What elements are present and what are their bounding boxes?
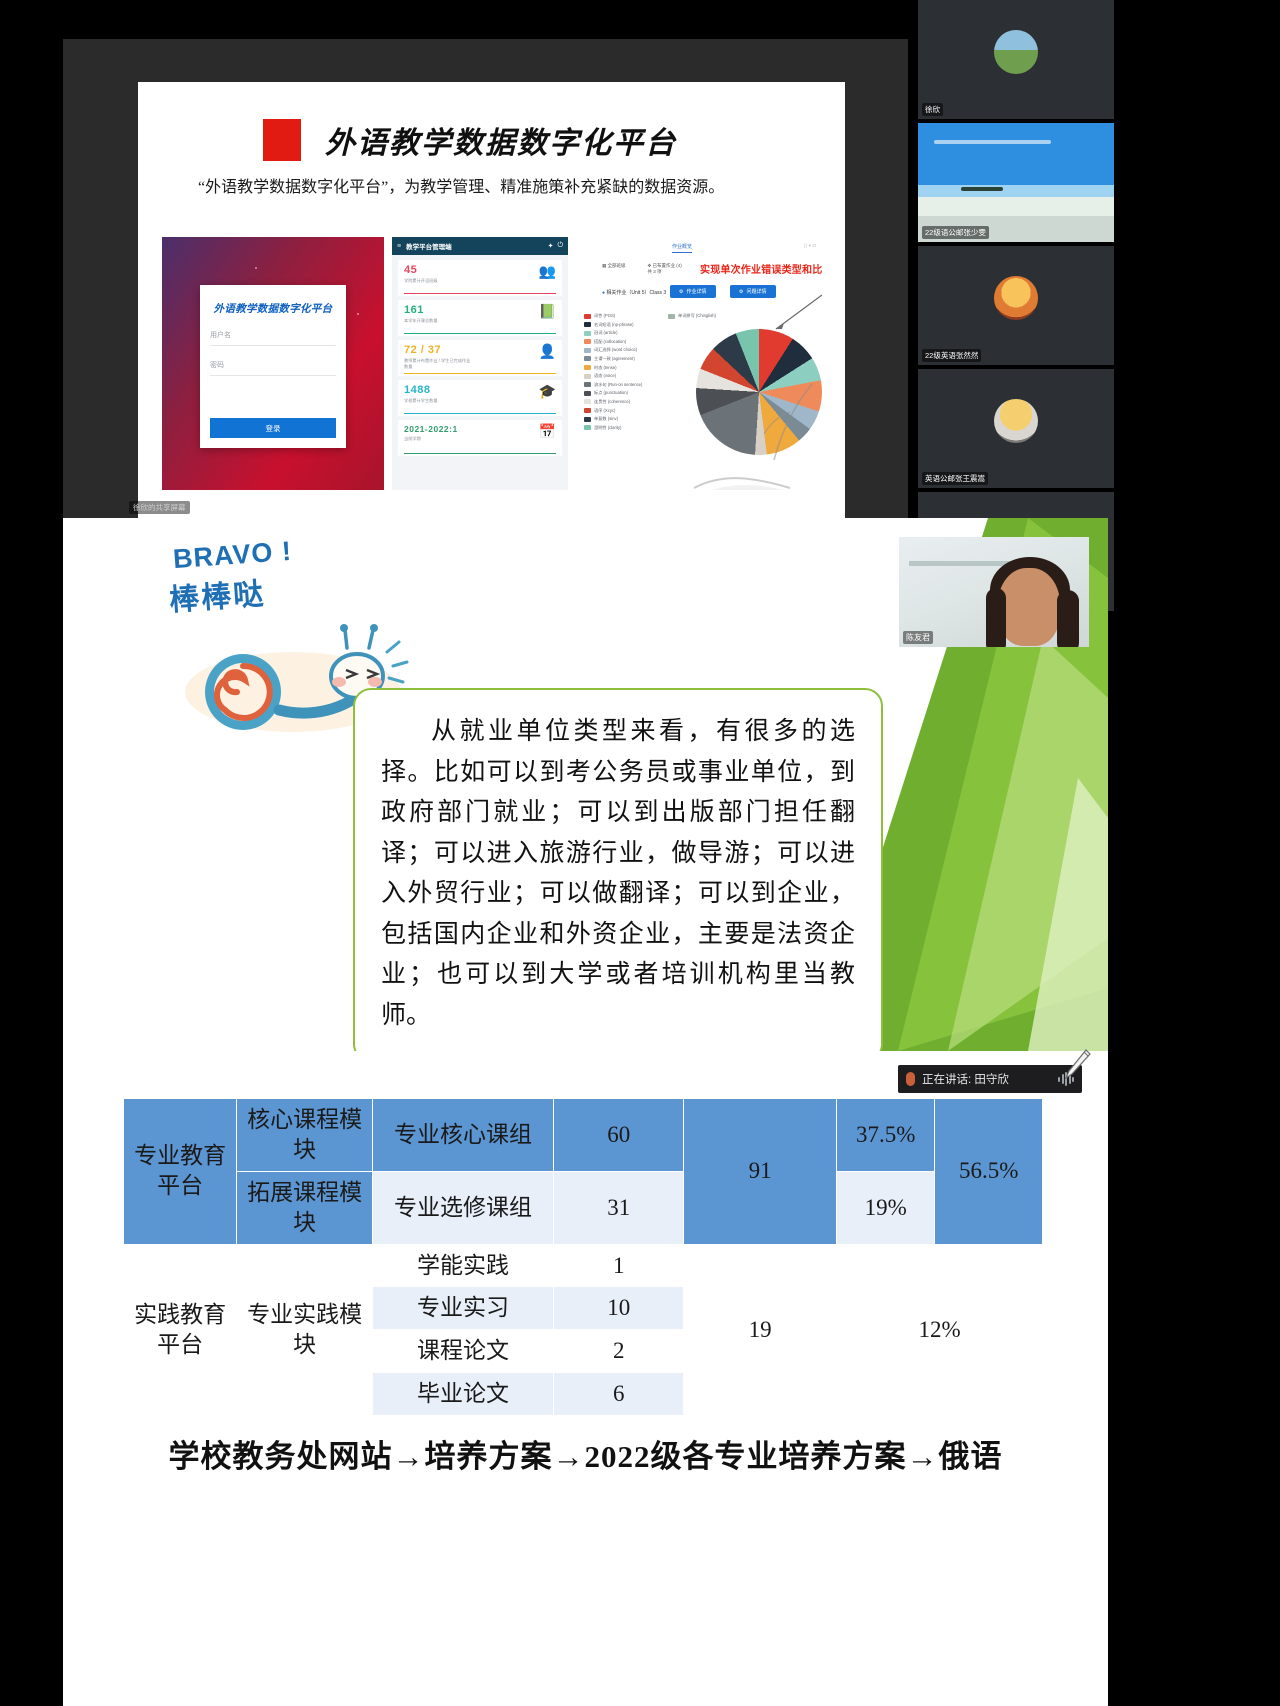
stat-caption: 学校累计学生数量 (404, 398, 438, 404)
legend-item: 搭配 (collocation) (584, 339, 642, 345)
legend-label: 搭配 (collocation) (594, 339, 626, 345)
analytics-button-issues[interactable]: ⚙ 问题详情 (730, 285, 776, 298)
legend-swatch (584, 391, 591, 396)
legend-label: 流水句 (Run-on sentence) (594, 382, 642, 388)
participant-name: 英语公邮张王震嵩 (922, 472, 988, 485)
slide-title: 外语教学数据数字化平台 (325, 118, 677, 162)
table-row: 实践教育平台 专业实践模块 学能实践 1 19 12% (124, 1244, 1043, 1287)
legend-item: 语序 (Xcyc) (584, 408, 642, 414)
red-square-bullet-icon (263, 119, 301, 161)
footer-navigation-path: 学校教务处网站→培养方案→2022级各专业培养方案→俄语 (63, 1431, 1108, 1476)
analytics-annotation: 实现单次作业错误类型和比例自动统计 (700, 261, 822, 276)
table-row: 专业教育平台 核心课程模块 专业核心课组 60 91 37.5% 56.5% (124, 1099, 1043, 1172)
active-speaker-video[interactable]: 陈友君 (899, 537, 1089, 647)
stat-card: 45 学院累计开设班级 👥 (398, 260, 562, 296)
cell-group-5: 课程论文 (372, 1330, 553, 1373)
microphone-icon (906, 1072, 915, 1086)
participant-name: 22级英语张然然 (922, 349, 981, 362)
participant-tile[interactable]: 22级语公邮张少雯 (918, 123, 1114, 242)
bravo-text-en: BRAVO ! (172, 536, 293, 575)
bubble-text: 从就业单位类型来看，有很多的选择。比如可以到考公务员或事业单位，到政府部门就业；… (381, 712, 855, 1036)
stat-card: 1488 学校累计学生数量 🎓 (398, 380, 562, 416)
cell-platform-2: 实践教育平台 (124, 1244, 237, 1416)
book-icon: 📗 (539, 304, 556, 318)
legend-swatch (584, 331, 591, 336)
speaker-name-label: 陈友君 (903, 631, 933, 644)
hamburger-icon[interactable]: ≡ (397, 243, 401, 250)
legend-swatch (584, 365, 591, 370)
username-field[interactable]: 用户名 (210, 330, 336, 346)
teacher-icon: 👤 (539, 344, 556, 358)
stats-screenshot: ≡ 教学平台管理端 ✦ ⏻ 45 学院累计开设班级 👥 (392, 237, 568, 490)
legend-label: 主谓一致 (agreement) (594, 356, 635, 362)
annotation-arrow-icon (772, 293, 822, 333)
share-screen-label: 徐欣的共享屏幕 (129, 501, 190, 514)
slide-curriculum-table: 专业教育平台 核心课程模块 专业核心课组 60 91 37.5% 56.5% 拓… (63, 1051, 1108, 1706)
legend-label: 语态 (voice) (594, 373, 616, 379)
chart-legend-right: 单词拼写 (Chinglish) (668, 313, 716, 319)
slide-screenshot-row: 外语教学数据数字化平台 用户名 密码 登录 ≡ 教学平台管理端 ✦ (162, 237, 822, 490)
stat-value: 45 (404, 264, 438, 276)
stat-caption: 学院累计开设班级 (404, 278, 438, 284)
filter-homework[interactable]: ✥ 已布置作业 (4) 共 3 项 (648, 263, 682, 275)
stat-value: 72 / 37 (404, 344, 474, 356)
cell-credits-2: 31 (554, 1171, 684, 1244)
legend-swatch (584, 356, 591, 361)
stats-topbar-title: 教学平台管理端 (406, 241, 452, 251)
graduate-icon: 🎓 (539, 384, 556, 398)
cell-pct-1: 37.5% (837, 1099, 935, 1172)
legend-item: 词性 (POS) (584, 313, 642, 319)
cell-group-2: 专业选修课组 (372, 1171, 553, 1244)
legend-label: 单复数 (sinv) (594, 416, 618, 422)
bravo-text-cn: 棒棒哒 (168, 569, 267, 620)
legend-swatch (584, 348, 591, 353)
legend-item: 澄明性 (clarity) (584, 425, 642, 431)
cell-subtotal-2: 19 (684, 1244, 837, 1416)
legend-label: 标点 (punctuation) (594, 390, 628, 396)
cell-total-pct-2: 12% (837, 1244, 1043, 1416)
legend-item: 流水句 (Run-on sentence) (584, 382, 642, 388)
cell-pct-2: 19% (837, 1171, 935, 1244)
cell-group-4: 专业实习 (372, 1287, 553, 1330)
curriculum-table: 专业教育平台 核心课程模块 专业核心课组 60 91 37.5% 56.5% 拓… (123, 1098, 1043, 1416)
stat-value: 2021-2022:1 (404, 424, 458, 434)
stat-caption: 本学年开课总数量 (404, 318, 438, 324)
gear-icon: ⚙ (739, 289, 743, 295)
tree-watermark-icon (694, 376, 822, 490)
cell-group-3: 学能实践 (372, 1244, 553, 1287)
analytics-tab[interactable]: 作业概览 (672, 243, 692, 253)
cell-credits-3: 1 (554, 1244, 684, 1287)
cell-module-1: 核心课程模块 (237, 1099, 373, 1172)
table-row: 拓展课程模块 专业选修课组 31 19% (124, 1171, 1043, 1244)
legend-item: 词汇选择 (word choice) (584, 347, 642, 353)
analytics-filters: ▦ 全部班级 ✥ 已布置作业 (4) 共 3 项 (602, 263, 682, 275)
legend-label: 澄明性 (clarity) (594, 425, 621, 431)
logout-icon[interactable]: ⏻ (557, 242, 563, 250)
pencil-cursor-icon (1062, 1048, 1092, 1082)
calendar-icon: 📅 (539, 424, 556, 438)
filter-class[interactable]: ▦ 全部班级 (602, 263, 626, 275)
legend-item: 标点 (punctuation) (584, 390, 642, 396)
participant-tile[interactable]: 徐欣 (918, 0, 1114, 119)
legend-item: 语态 (voice) (584, 373, 642, 379)
gear-icon: ⚙ (679, 289, 683, 295)
legend-swatch (584, 339, 591, 344)
stat-card: 72 / 37 教师累计布置作业 / 学生已完成作业数量 👤 (398, 340, 562, 376)
cell-credits-1: 60 (554, 1099, 684, 1172)
login-title: 外语教学数据数字化平台 (200, 301, 346, 316)
cell-platform-1: 专业教育平台 (124, 1099, 237, 1245)
cell-credits-4: 10 (554, 1287, 684, 1330)
share-frame: 外语教学数据数字化平台 “外语教学数据数字化平台”，为教学管理、精准施策补充紧缺… (63, 39, 908, 518)
cell-credits-5: 2 (554, 1330, 684, 1373)
slide-foreign-language-platform: 外语教学数据数字化平台 “外语教学数据数字化平台”，为教学管理、精准施策补充紧缺… (138, 82, 845, 522)
participant-filmstrip: 徐欣 22级语公邮张少雯 22级英语张然然 英语公邮张王震嵩 (918, 0, 1114, 518)
stat-value: 1488 (404, 384, 438, 396)
legend-label: 冠词 (article) (594, 330, 618, 336)
stats-topbar-icons: ✦ ⏻ (548, 242, 563, 250)
legend-swatch (584, 382, 591, 387)
speaking-status-text: 正在讲话: 田守欣 (922, 1071, 1009, 1087)
slide-subtitle: “外语教学数据数字化平台”，为教学管理、精准施策补充紧缺的数据资源。 (198, 174, 788, 202)
cell-module-3: 专业实践模块 (237, 1244, 373, 1416)
legend-label: 名词短语 (np-phrase) (594, 322, 634, 328)
video-frame (918, 123, 1114, 242)
stat-caption: 教师累计布置作业 / 学生已完成作业数量 (404, 358, 474, 369)
login-card: 外语教学数据数字化平台 用户名 密码 登录 (200, 285, 346, 448)
shared-screen-region: 外语教学数据数字化平台 “外语教学数据数字化平台”，为教学管理、精准施策补充紧缺… (0, 0, 1280, 518)
legend-item: 单复数 (sinv) (584, 416, 642, 422)
legend-swatch (584, 399, 591, 404)
chip-dot-icon: ● (602, 290, 605, 296)
password-field[interactable]: 密码 (210, 360, 336, 376)
stat-caption: 当前学期 (404, 436, 458, 442)
screen-root: 外语教学数据数字化平台 “外语教学数据数字化平台”，为教学管理、精准施策补充紧缺… (0, 0, 1280, 1706)
legend-label: 词性 (POS) (594, 313, 615, 319)
chart-legend-left: 词性 (POS)名词短语 (np-phrase)冠词 (article)搭配 (… (584, 313, 642, 431)
legend-swatch (584, 374, 591, 379)
bell-icon[interactable]: ✦ (548, 242, 554, 250)
login-button[interactable]: 登录 (210, 418, 336, 438)
slide-career-options: BRAVO ! 棒棒哒 从就业单位类型来看，有很多的选择。比如可以到考公务员或事… (63, 518, 1108, 1051)
legend-swatch (584, 417, 591, 422)
participant-name: 22级语公邮张少雯 (922, 226, 989, 239)
cell-total-pct-1: 56.5% (935, 1099, 1043, 1245)
legend-label: 时态 (tense) (594, 365, 617, 371)
avatar (994, 276, 1038, 320)
stats-card-list: 45 学院累计开设班级 👥 161 本学年开课总数量 📗 (392, 255, 568, 461)
legend-label: 单词拼写 (Chinglish) (678, 313, 716, 319)
group-icon: 👥 (539, 264, 556, 278)
cell-group-1: 专业核心课组 (372, 1099, 553, 1172)
legend-label: 连贯性 (coherence) (594, 399, 630, 405)
legend-item: 时态 (tense) (584, 365, 642, 371)
legend-swatch (584, 408, 591, 413)
legend-swatch (584, 322, 591, 327)
legend-swatch (584, 314, 591, 319)
cell-module-2: 拓展课程模块 (237, 1171, 373, 1244)
legend-label: 语序 (Xcyc) (594, 408, 615, 414)
participant-tile[interactable]: 22级英语张然然 (918, 246, 1114, 365)
cell-subtotal-1: 91 (684, 1099, 837, 1245)
legend-item: 单词拼写 (Chinglish) (668, 313, 716, 319)
legend-swatch (584, 425, 591, 430)
legend-item: 主谓一致 (agreement) (584, 356, 642, 362)
analytics-chip: ● 相关作业（Unit 5）Class 3 (602, 289, 666, 296)
cell-credits-6: 6 (554, 1373, 684, 1416)
legend-item: 冠词 (article) (584, 330, 642, 336)
login-screenshot: 外语教学数据数字化平台 用户名 密码 登录 (162, 237, 384, 490)
stats-topbar: ≡ 教学平台管理端 ✦ ⏻ (392, 237, 568, 255)
participant-tile[interactable]: 英语公邮张王震嵩 (918, 369, 1114, 488)
analytics-screenshot: 作业概览 | | ▾ ⊡ ▦ 全部班级 ✥ 已布置作业 (4) 共 3 项 实现… (576, 237, 822, 490)
speaking-status-bar: 正在讲话: 田守欣 (898, 1065, 1082, 1093)
slide-title-row: 外语教学数据数字化平台 (263, 118, 677, 162)
avatar (994, 399, 1038, 443)
speech-bubble: 从就业单位类型来看，有很多的选择。比如可以到考公务员或事业单位，到政府部门就业；… (353, 688, 883, 1051)
legend-item: 连贯性 (coherence) (584, 399, 642, 405)
legend-label: 词汇选择 (word choice) (594, 347, 637, 353)
analytics-button-detail[interactable]: ⚙ 作业详情 (670, 285, 716, 298)
stat-card: 2021-2022:1 当前学期 📅 (398, 420, 562, 456)
stat-value: 161 (404, 304, 438, 316)
legend-swatch (668, 314, 675, 319)
cell-group-6: 毕业论文 (372, 1373, 553, 1416)
participant-name: 徐欣 (922, 103, 943, 116)
analytics-meta: | | ▾ ⊡ (804, 243, 816, 249)
legend-item: 名词短语 (np-phrase) (584, 322, 642, 328)
stat-card: 161 本学年开课总数量 📗 (398, 300, 562, 336)
avatar (994, 30, 1038, 74)
